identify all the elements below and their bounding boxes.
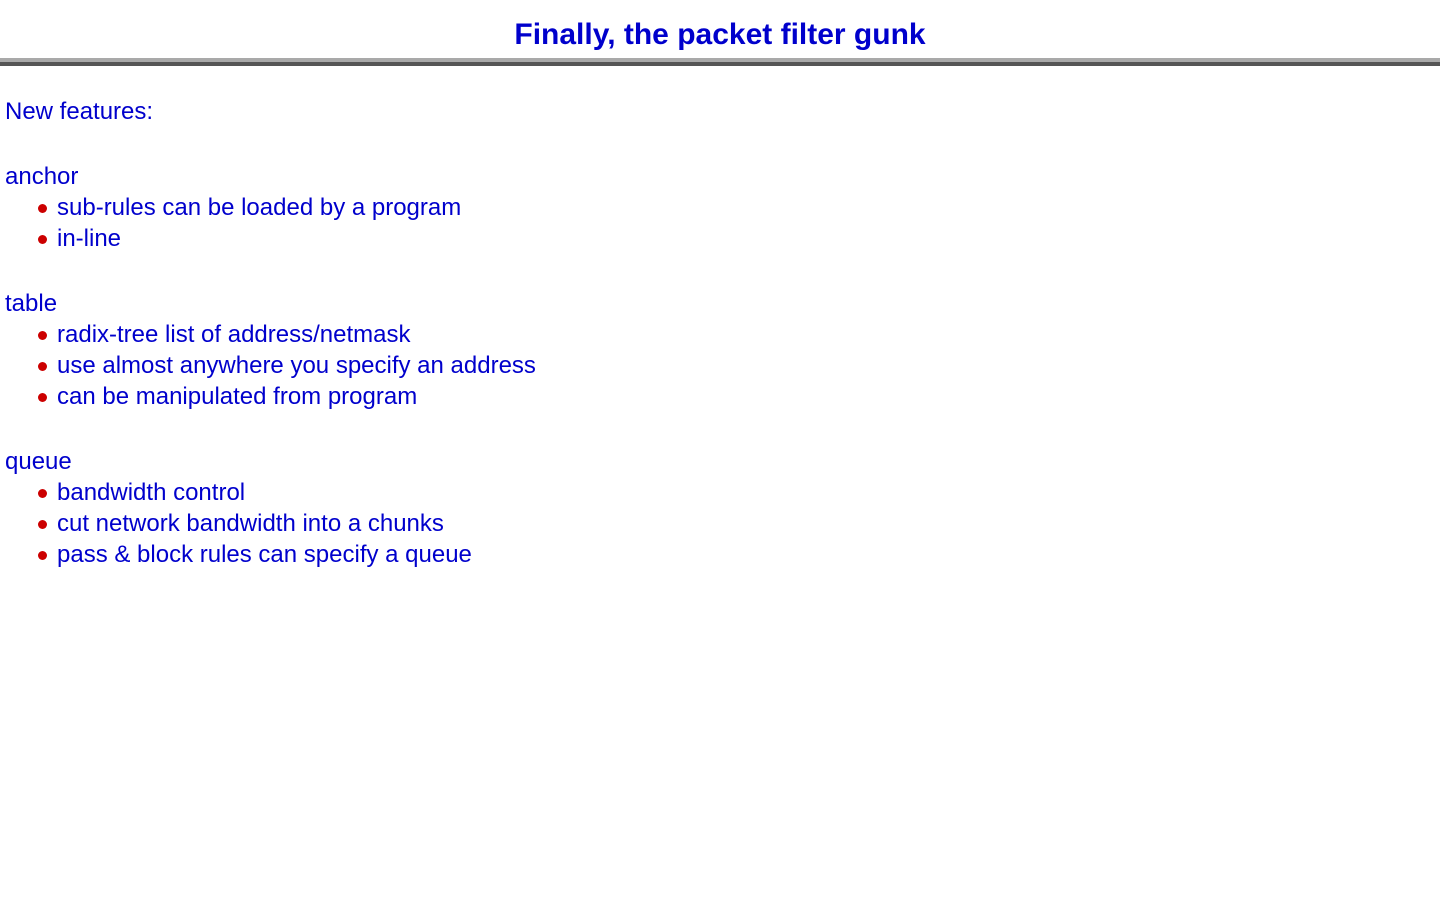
rule-shadow-band [0,62,1440,66]
list-item: pass & block rules can specify a queue [5,539,1405,570]
list-item-label: radix-tree list of address/netmask [57,321,410,348]
slide-canvas: Finally, the packet filter gunk New feat… [0,0,1440,900]
list-item-label: use almost anywhere you specify an addre… [57,352,536,379]
list-item: can be manipulated from program [5,381,1405,412]
red-disc-bullet-icon [38,235,47,244]
section-queue: queue bandwidth control cut network band… [5,446,1405,570]
bullet-list-queue: bandwidth control cut network bandwidth … [5,477,1405,570]
section-table: table radix-tree list of address/netmask… [5,288,1405,412]
section-title-anchor: anchor [5,161,1405,192]
slide-body: New features: anchor sub-rules can be lo… [5,96,1405,570]
red-disc-bullet-icon [38,393,47,402]
list-item: bandwidth control [5,477,1405,508]
bullet-list-anchor: sub-rules can be loaded by a program in-… [5,192,1405,254]
red-disc-bullet-icon [38,362,47,371]
list-item-label: bandwidth control [57,479,245,506]
section-title-table: table [5,288,1405,319]
intro-spacer [5,127,1405,161]
section-title-queue: queue [5,446,1405,477]
red-disc-bullet-icon [38,204,47,213]
section-spacer-1 [5,254,1405,288]
red-disc-bullet-icon [38,551,47,560]
list-item: in-line [5,223,1405,254]
title-separator-rule [0,58,1440,66]
intro-text: New features: [5,96,1405,127]
list-item-label: cut network bandwidth into a chunks [57,510,444,537]
red-disc-bullet-icon [38,489,47,498]
list-item: radix-tree list of address/netmask [5,319,1405,350]
red-disc-bullet-icon [38,331,47,340]
page-title: Finally, the packet filter gunk [0,18,1440,52]
list-item: use almost anywhere you specify an addre… [5,350,1405,381]
list-item-label: in-line [57,225,121,252]
bullet-list-table: radix-tree list of address/netmask use a… [5,319,1405,412]
list-item: cut network bandwidth into a chunks [5,508,1405,539]
section-anchor: anchor sub-rules can be loaded by a prog… [5,161,1405,254]
list-item: sub-rules can be loaded by a program [5,192,1405,223]
list-item-label: pass & block rules can specify a queue [57,541,472,568]
red-disc-bullet-icon [38,520,47,529]
list-item-label: sub-rules can be loaded by a program [57,194,461,221]
list-item-label: can be manipulated from program [57,383,417,410]
section-spacer-2 [5,412,1405,446]
